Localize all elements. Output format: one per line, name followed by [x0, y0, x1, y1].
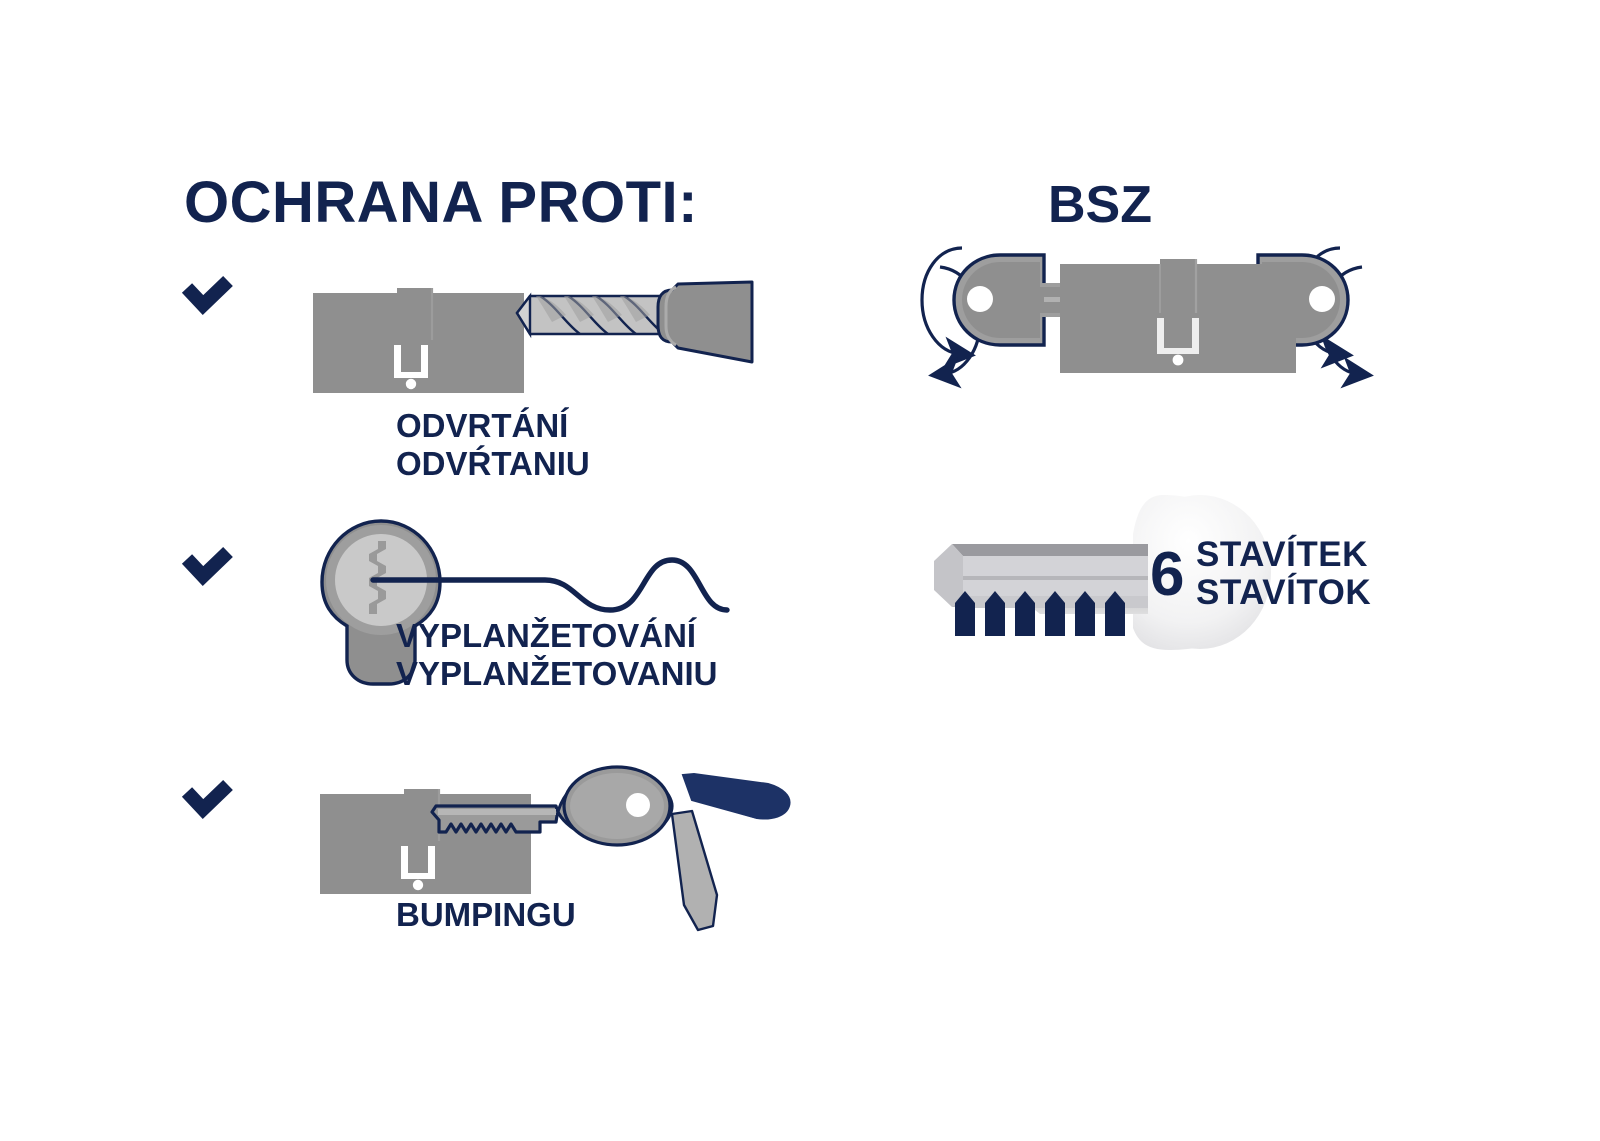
bsz-title: BSZ	[1048, 176, 1152, 234]
lock-cylinder-side-icon	[313, 288, 524, 393]
pin-label-sk: STAVÍTOK	[1196, 572, 1371, 612]
feature-label-sk-drilling: ODVŔTANIU	[396, 445, 590, 482]
pin-label-cz: STAVÍTEK	[1196, 534, 1368, 574]
feature-label-cz-picking: VYPLANŽETOVÁNÍ	[396, 617, 697, 654]
feature-label-cz-bumping: BUMPINGU	[396, 896, 576, 933]
feature-label-sk-picking: VYPLANŽETOVANIU	[396, 655, 717, 692]
drill-bit-icon	[517, 296, 672, 334]
page-title: OCHRANA PROTI:	[184, 170, 698, 235]
feature-label-cz-drilling: ODVRTÁNÍ	[396, 407, 569, 444]
pin-count-number: 6	[1150, 540, 1184, 609]
infographic-canvas: OCHRANA PROTI:	[0, 0, 1600, 1141]
